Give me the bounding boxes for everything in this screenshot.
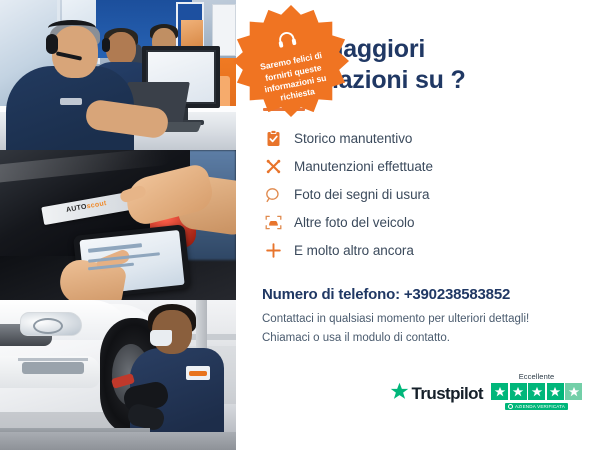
photo-call-centre-advisors-with-headsets [0,0,236,150]
trustpilot-star-icon [390,382,409,406]
clipboard-check-icon [262,128,284,150]
badge-text: Saremo felici di fornirti queste informa… [247,48,342,110]
trustpilot-rating-label: Eccellente [519,372,555,381]
verified-label: AZIENDA VERIFICATA [515,404,565,409]
check-circle-icon [508,404,513,409]
feature-label: E molto altro ancora [294,243,414,258]
feature-label: Foto dei segni di usura [294,187,429,202]
trustpilot-widget[interactable]: Trustpilot Eccellente AZIENDA VERIFICATA [390,372,582,410]
photo-technician-scanning-vehicle-plate-with-tablet: AUTOscout [0,150,236,300]
advert-card: AUTOscout Vuoi maggiori informazion [0,0,600,450]
photo-column: AUTOscout [0,0,236,450]
trustpilot-stars [491,383,582,400]
feature-list: Storico manutentivo Manutenzi [262,125,576,264]
tools-cross-icon [262,156,284,178]
trustpilot-name: Trustpilot [412,384,483,404]
feature-label: Storico manutentivo [294,131,412,146]
feature-item-manutenzioni-effettuate: Manutenzioni effettuate [262,153,576,180]
callout-badge: Saremo felici di fornirti queste informa… [232,2,350,120]
feature-item-altre-foto-del-veicolo: Altre foto del veicolo [262,209,576,236]
star-partial-icon [565,383,582,400]
contact-line-2: Chiamaci o usa il modulo di contatto. [262,329,576,348]
trustpilot-rating: Eccellente AZIENDA VERIFICATA [491,372,582,410]
star-filled-icon [491,383,508,400]
verified-business-badge: AZIENDA VERIFICATA [505,403,568,410]
star-filled-icon [510,383,527,400]
feature-label: Manutenzioni effettuate [294,159,433,174]
star-filled-icon [528,383,545,400]
star-filled-icon [547,383,564,400]
feature-label: Altre foto del veicolo [294,215,414,230]
phone-number-label[interactable]: Numero di telefono: +390238583852 [262,286,576,303]
magnifier-icon [262,184,284,206]
feature-item-foto-dei-segni-di-usura: Foto dei segni di usura [262,181,576,208]
trustpilot-brand: Trustpilot [390,382,483,410]
feature-item-storico-manutentivo: Storico manutentivo [262,125,576,152]
car-scan-frame-icon [262,212,284,234]
feature-item-e-molto-altro-ancora: E molto altro ancora [262,237,576,264]
plus-icon [262,240,284,262]
contact-line-1: Contattaci in qualsiasi momento per ulte… [262,310,576,329]
headset-icon [275,29,299,55]
photo-mechanic-changing-wheel-on-white-car [0,300,236,450]
contact-block: Numero di telefono: +390238583852 Contat… [262,286,576,347]
